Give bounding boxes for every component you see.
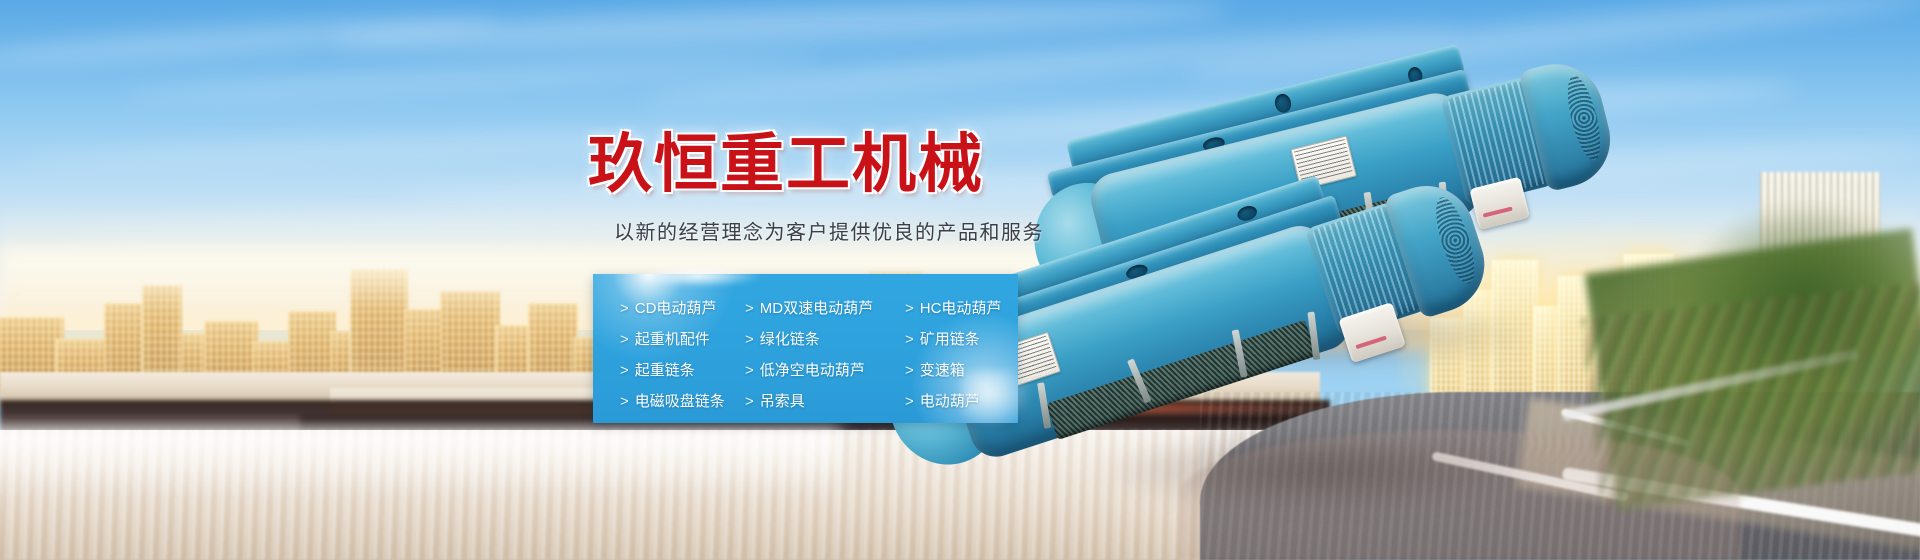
product-link-label: 起重链条 [635, 362, 695, 379]
product-link-greening-chain[interactable]: >绿化链条 [745, 332, 905, 347]
page-subtitle: 以新的经营理念为客户提供优良的产品和服务 [614, 216, 1044, 245]
chevron-right-icon: > [905, 300, 914, 317]
product-link-md-dual-speed-hoist[interactable]: >MD双速电动葫芦 [745, 301, 905, 316]
chevron-right-icon: > [620, 300, 629, 317]
chevron-right-icon: > [620, 362, 629, 379]
chevron-right-icon: > [745, 300, 754, 317]
product-link-mining-chain[interactable]: >矿用链条 [905, 332, 1045, 347]
product-link-label: 绿化链条 [760, 331, 820, 348]
product-link-electric-hoist[interactable]: >电动葫芦 [905, 394, 1045, 409]
product-link-label: 变速箱 [920, 362, 965, 379]
product-link-label: 电磁吸盘链条 [635, 393, 725, 410]
product-link-label: 电动葫芦 [920, 393, 980, 410]
product-link-magnetic-chuck-chain[interactable]: >电磁吸盘链条 [620, 394, 745, 409]
chevron-right-icon: > [905, 362, 914, 379]
product-link-label: HC电动葫芦 [920, 300, 1002, 317]
chevron-right-icon: > [905, 393, 914, 410]
product-link-gearbox[interactable]: >变速箱 [905, 363, 1045, 378]
product-link-label: 矿用链条 [920, 331, 980, 348]
junction-box-stripe [1355, 335, 1387, 349]
product-link-slings[interactable]: >吊索具 [745, 394, 905, 409]
chevron-right-icon: > [905, 331, 914, 348]
product-link-lifting-chain[interactable]: >起重链条 [620, 363, 745, 378]
chevron-right-icon: > [745, 362, 754, 379]
product-link-hc-hoist[interactable]: >HC电动葫芦 [905, 301, 1045, 316]
chevron-right-icon: > [745, 331, 754, 348]
product-link-label: MD双速电动葫芦 [760, 300, 873, 317]
product-link-low-headroom-hoist[interactable]: >低净空电动葫芦 [745, 363, 905, 378]
road-light-sheen [0, 428, 840, 498]
product-link-label: 吊索具 [760, 393, 805, 410]
chevron-right-icon: > [620, 393, 629, 410]
product-link-label: 低净空电动葫芦 [760, 362, 865, 379]
product-link-cd-hoist[interactable]: >CD电动葫芦 [620, 301, 745, 316]
motor-vent-grille-icon [1429, 193, 1482, 286]
product-link-crane-parts[interactable]: >起重机配件 [620, 332, 745, 347]
product-links-panel: >CD电动葫芦 >MD双速电动葫芦 >HC电动葫芦 >起重机配件 >绿化链条 >… [593, 274, 1018, 423]
product-link-label: CD电动葫芦 [635, 300, 717, 317]
chevron-right-icon: > [620, 331, 629, 348]
page-title: 玖恒重工机械 [588, 113, 984, 205]
junction-box-stripe [1483, 207, 1513, 218]
product-link-label: 起重机配件 [635, 331, 710, 348]
hero-banner: 玖恒重工机械 以新的经营理念为客户提供优良的产品和服务 >CD电动葫芦 >MD双… [0, 0, 1920, 560]
chevron-right-icon: > [745, 393, 754, 410]
product-links-grid: >CD电动葫芦 >MD双速电动葫芦 >HC电动葫芦 >起重机配件 >绿化链条 >… [593, 274, 1018, 423]
